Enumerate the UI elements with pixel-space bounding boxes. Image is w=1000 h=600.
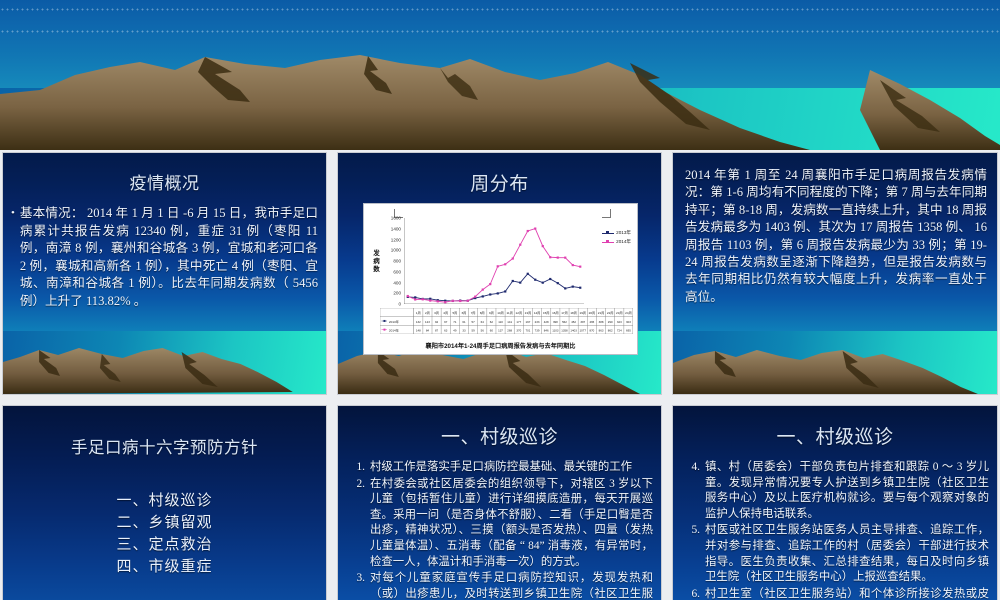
village-patrol-a-index-1: 1. xyxy=(348,460,365,476)
chart-data-point xyxy=(429,300,431,302)
chart-table-cell: 724 xyxy=(617,329,622,333)
panel6-title: 一、村级巡诊 xyxy=(673,422,997,449)
chart-table-cell: 323 xyxy=(617,320,622,324)
chart-table-cell: 370 xyxy=(516,329,521,333)
village-patrol-a-text-1: 村级工作是落实手足口病防控最基础、最关键的工作 xyxy=(370,460,653,476)
chart-data-point xyxy=(482,288,484,290)
chart-table-cell: 701 xyxy=(526,329,531,333)
chart-table-cell: 59 xyxy=(472,329,476,333)
prevention-policy-lines: 一、村级巡诊二、乡镇留观三、定点救治四、市级重症 xyxy=(3,490,326,578)
chart-table-cell: 863 xyxy=(599,329,604,333)
chart-table-cell: 71 xyxy=(453,320,457,324)
chart-table-cell: 398 xyxy=(553,320,558,324)
chart-data-point xyxy=(482,295,484,297)
chart-table-cell: 16周 xyxy=(552,310,558,315)
chart-legend-label: 2014年 xyxy=(616,239,631,245)
chart-data-point xyxy=(549,278,551,280)
chart-series-line xyxy=(408,274,581,301)
chart-table-cell: 23周 xyxy=(616,310,622,315)
list-item: 6.村卫生室（社区卫生服务站）和个体诊所接诊发热或皮疹患儿后，应立即转往乡镇卫生… xyxy=(683,587,989,600)
chart-table-cell: 62 xyxy=(490,320,494,324)
banner-dot-row-2 xyxy=(0,30,1000,33)
chart-table-cell: 10周 xyxy=(497,310,503,315)
chart-table-cell: 177 xyxy=(516,320,521,324)
panel1-body: • 基本情况： 2014 年 1 月 1 日 -6 月 15 日，我市手足口病累… xyxy=(11,205,318,311)
chart-data-table: 1周2周3周4周5周6周7周8周9周10周11周12周13周14周15周16周1… xyxy=(380,308,633,334)
chart-data-point xyxy=(564,287,566,289)
chart-table-cell: 428 xyxy=(544,320,549,324)
panel4-title: 手足口病十六字预防方针 xyxy=(3,434,326,458)
chart-data-point xyxy=(497,292,499,294)
village-patrol-b-index-2: 5. xyxy=(683,523,700,585)
chart-table-cell: 739 xyxy=(535,329,540,333)
village-patrol-a-text-3: 对每个儿童家庭宣传手足口病防控知识，发现发热和（或）出疹患儿，及时转送到乡镇卫生… xyxy=(370,571,653,600)
chart-y-tick: 400 xyxy=(393,280,401,285)
banner-dot-row-1 xyxy=(0,8,1000,11)
slide-thumbnail-village-patrol-a[interactable]: 一、村级巡诊 1.村级工作是落实手足口病防控最基础、最关键的工作2.在村委会或社… xyxy=(337,405,662,600)
chart-data-point xyxy=(497,265,499,267)
chart-data-point xyxy=(542,245,544,247)
chart-table-cell: 148 xyxy=(416,329,421,333)
banner-background xyxy=(0,0,1000,150)
chart-table-cell: 9周 xyxy=(489,310,494,315)
village-patrol-a-text-2: 在村委会或社区居委会的组织领导下，对辖区 3 岁以下儿童（包括暂住儿童）进行详细… xyxy=(370,477,653,571)
chart-table-cell: 22周 xyxy=(607,310,613,315)
slide-thumbnail-epidemic-overview[interactable]: 疫情概况 • 基本情况： 2014 年 1 月 1 日 -6 月 15 日，我市… xyxy=(2,152,327,395)
chart-table-cell: 1403 xyxy=(570,329,577,333)
chart-data-point xyxy=(549,256,551,258)
chart-table-cell: 141 xyxy=(507,320,512,324)
chart-table-cell: 19周 xyxy=(580,310,586,315)
village-patrol-b-text-2: 村医或社区卫生服务站医务人员主导排查、追踪工作，并对参与排查、追踪工作的村（居委… xyxy=(705,523,989,585)
village-patrol-a-index-2: 2. xyxy=(348,477,365,571)
chart-table-cell: 8周 xyxy=(480,310,485,315)
chart-y-tick: 0 xyxy=(398,302,401,307)
chart-data-point xyxy=(534,227,536,229)
chart-legend: 2013年2014年 xyxy=(602,230,631,248)
chart-data-point xyxy=(422,298,424,300)
chart-y-tick: 1000 xyxy=(391,248,401,253)
prevention-policy-line-1: 一、村级巡诊 xyxy=(3,490,326,512)
panel1-body-text: 基本情况： 2014 年 1 月 1 日 -6 月 15 日，我市手足口病累计共… xyxy=(20,205,318,311)
chart-table-cell: 4周 xyxy=(443,310,448,315)
bullet-dot-icon: • xyxy=(11,205,15,311)
panel1-title: 疫情概况 xyxy=(3,169,326,194)
chart-table-cell: 1103 xyxy=(552,329,559,333)
panel5-title: 一、村级巡诊 xyxy=(338,422,661,449)
chart-data-point xyxy=(512,280,514,282)
chart-plot-area xyxy=(404,218,584,304)
chart-table-cell: 24周 xyxy=(625,310,631,315)
chart-table-cell: 56 xyxy=(481,329,485,333)
chart-y-axis-ticks: 02004006008001000120014001600 xyxy=(380,218,402,304)
chart-table-cell: 49 xyxy=(453,329,457,333)
chart-table-cell: 60 xyxy=(490,329,494,333)
list-item: 1.村级工作是落实手足口病防控最基础、最关键的工作 xyxy=(348,460,653,476)
chart-data-point xyxy=(572,286,574,288)
chart-table-cell: 862 xyxy=(608,329,613,333)
chart-legend-label: 2013年 xyxy=(616,230,631,236)
chart-table-cell: 97 xyxy=(444,320,448,324)
slide-thumbnail-weekly-summary[interactable]: 2014 年第 1 周至 24 周襄阳市手足口病周报告发病情况：第 1-6 周均… xyxy=(672,152,998,395)
chart-table-cell: 1358 xyxy=(561,329,568,333)
chart-table-cell: 110 xyxy=(498,320,503,324)
chart-data-point xyxy=(452,300,454,302)
chart-table-cell: 846 xyxy=(544,329,549,333)
chart-table-cell: 303 xyxy=(626,320,631,324)
chart-data-point xyxy=(407,295,409,297)
chart-series-line xyxy=(408,229,581,303)
prevention-policy-line-2: 二、乡镇留观 xyxy=(3,512,326,534)
chart-legend-swatch xyxy=(602,233,614,234)
chart-table-cell: 57 xyxy=(472,320,476,324)
slide-thumbnail-village-patrol-b[interactable]: 一、村级巡诊 4.镇、村（居委会）干部负责包片排查和跟踪 0 ～ 3 岁儿童。发… xyxy=(672,405,998,600)
chart-data-point xyxy=(542,282,544,284)
chart-table-cell: 2013年 xyxy=(389,319,399,324)
chart-data-point xyxy=(414,298,416,300)
chart-table-cell: 197 xyxy=(526,320,531,324)
chart-table-cell: 3周 xyxy=(434,310,439,315)
chart-table-cell: 695 xyxy=(626,329,631,333)
chart-data-point xyxy=(512,257,514,259)
chart-data-point xyxy=(579,287,581,289)
chart-data-point xyxy=(527,273,529,275)
chart-table-cell: 1077 xyxy=(580,329,587,333)
chart-table-cell: 388 xyxy=(599,320,604,324)
village-patrol-b-index-1: 4. xyxy=(683,460,700,522)
chart-data-point xyxy=(527,230,529,232)
chart-table-cell: 7周 xyxy=(471,310,476,315)
village-patrol-a-index-3: 3. xyxy=(348,571,365,600)
chart-data-point xyxy=(504,290,506,292)
list-item: 4.镇、村（居委会）干部负责包片排查和跟踪 0 ～ 3 岁儿童。发现异常情况要专… xyxy=(683,460,989,522)
chart-legend-item: 2013年 xyxy=(602,230,631,236)
chart-data-point xyxy=(414,296,416,298)
chart-table-cell: 87 xyxy=(435,329,439,333)
prevention-policy-line-3: 三、定点救治 xyxy=(3,534,326,556)
prevention-policy-line-4: 四、市级重症 xyxy=(3,556,326,578)
chart-data-point xyxy=(519,244,521,246)
chart-y-tick: 1600 xyxy=(391,216,401,221)
chart-data-point xyxy=(467,300,469,302)
chart-legend-swatch xyxy=(602,242,614,243)
panel3-body-text: 2014 年第 1 周至 24 周襄阳市手足口病周报告发病情况：第 1-6 周均… xyxy=(685,167,987,306)
chart-table-cell: 870 xyxy=(589,329,594,333)
chart-data-point xyxy=(557,282,559,284)
slide-thumbnail-prevention-policy[interactable]: 手足口病十六字预防方针 一、村级巡诊二、乡镇留观三、定点救治四、市级重症 xyxy=(2,405,327,600)
chart-table-cell: 84 xyxy=(426,329,430,333)
chart-data-point xyxy=(557,257,559,259)
chart-table-cell: 13周 xyxy=(525,310,531,315)
chart-legend-item: 2014年 xyxy=(602,239,631,245)
chart-y-tick: 200 xyxy=(393,291,401,296)
banner-mountain-icon xyxy=(0,50,1000,150)
chart-table-cell: 21周 xyxy=(598,310,604,315)
chart-table-cell: 562 xyxy=(562,320,567,324)
chart-table-cell: 1周 xyxy=(416,310,421,315)
chart-y-tick: 800 xyxy=(393,259,401,264)
slide-thumbnail-grid: 疫情概况 • 基本情况： 2014 年 1 月 1 日 -6 月 15 日，我市… xyxy=(0,0,1000,600)
village-patrol-b-text-3: 村卫生室（社区卫生服务站）和个体诊所接诊发热或皮疹患儿后，应立即转往乡镇卫生院（… xyxy=(705,587,989,600)
header-banner-graphic xyxy=(0,0,1000,150)
chart-table-cell: 64 xyxy=(481,320,485,324)
chart-table-cell: 132 xyxy=(416,320,421,324)
chart-table-cell: 12周 xyxy=(516,310,522,315)
chart-data-point xyxy=(459,300,461,302)
chart-table-cell: 123 xyxy=(425,320,430,324)
chart-table-cell: 18周 xyxy=(570,310,576,315)
chart-table-cell: 290 xyxy=(608,320,613,324)
chart-data-point xyxy=(519,282,521,284)
weekly-incidence-chart[interactable]: 发病数 02004006008001000120014001600 2013年2… xyxy=(363,203,638,355)
list-item: 3.对每个儿童家庭宣传手足口病防控知识，发现发热和（或）出疹患儿，及时转送到乡镇… xyxy=(348,571,653,600)
chart-table-cell: 20周 xyxy=(589,310,595,315)
chart-corner-mark-tr xyxy=(602,209,611,218)
chart-data-point xyxy=(489,293,491,295)
chart-table-cell: 397 xyxy=(580,320,585,324)
chart-data-point xyxy=(572,264,574,266)
chart-table-cell: 268 xyxy=(507,329,512,333)
chart-table-cell: 2周 xyxy=(425,310,430,315)
chart-data-point xyxy=(579,266,581,268)
chart-data-point xyxy=(534,279,536,281)
chart-table-cell: 33 xyxy=(462,329,466,333)
chart-data-point xyxy=(489,283,491,285)
chart-table-cell: 11周 xyxy=(507,310,513,315)
village-patrol-a-list: 1.村级工作是落实手足口病防控最基础、最关键的工作2.在村委会或社区居委会的组织… xyxy=(348,460,653,600)
chart-data-point xyxy=(564,257,566,259)
chart-table-cell: 137 xyxy=(498,329,503,333)
chart-table-cell: 5周 xyxy=(452,310,457,315)
chart-table-cell: 465 xyxy=(589,320,594,324)
chart-data-point xyxy=(437,300,439,302)
village-patrol-b-list: 4.镇、村（居委会）干部负责包片排查和跟踪 0 ～ 3 岁儿童。发现异常情况要专… xyxy=(683,460,989,600)
chart-table-cell: 63 xyxy=(444,329,448,333)
chart-data-point xyxy=(474,296,476,298)
chart-y-tick: 600 xyxy=(393,269,401,274)
chart-table-cell: 15周 xyxy=(543,310,549,315)
slide-thumbnail-weekly-distribution[interactable]: 周分布 发病数 02004006008001000120014001600 20… xyxy=(337,152,662,395)
chart-table-cell: 17周 xyxy=(561,310,567,315)
chart-table-cell: 233 xyxy=(535,320,540,324)
chart-y-tick: 1200 xyxy=(391,237,401,242)
village-patrol-b-text-1: 镇、村（居委会）干部负责包片排查和跟踪 0 ～ 3 岁儿童。发现异常情况要专人护… xyxy=(705,460,989,522)
chart-data-point xyxy=(504,263,506,265)
list-item: 2.在村委会或社区居委会的组织领导下，对辖区 3 岁以下儿童（包括暂住儿童）进行… xyxy=(348,477,653,571)
chart-table-cell: 452 xyxy=(571,320,576,324)
village-patrol-b-index-3: 6. xyxy=(683,587,700,600)
chart-caption: 襄阳市2014年1-24周手足口病周报告发病与去年同期比 xyxy=(364,341,637,350)
chart-y-tick: 1400 xyxy=(391,226,401,231)
list-item: 5.村医或社区卫生服务站医务人员主导排查、追踪工作，并对参与排查、追踪工作的村（… xyxy=(683,523,989,585)
chart-table-cell: 14周 xyxy=(534,310,540,315)
chart-data-point xyxy=(444,301,446,303)
chart-table-cell: 61 xyxy=(462,320,466,324)
panel2-title: 周分布 xyxy=(338,169,661,196)
chart-table-cell: 2014年 xyxy=(389,328,399,333)
chart-table-cell: 94 xyxy=(435,320,439,324)
chart-table-cell: 6周 xyxy=(462,310,467,315)
